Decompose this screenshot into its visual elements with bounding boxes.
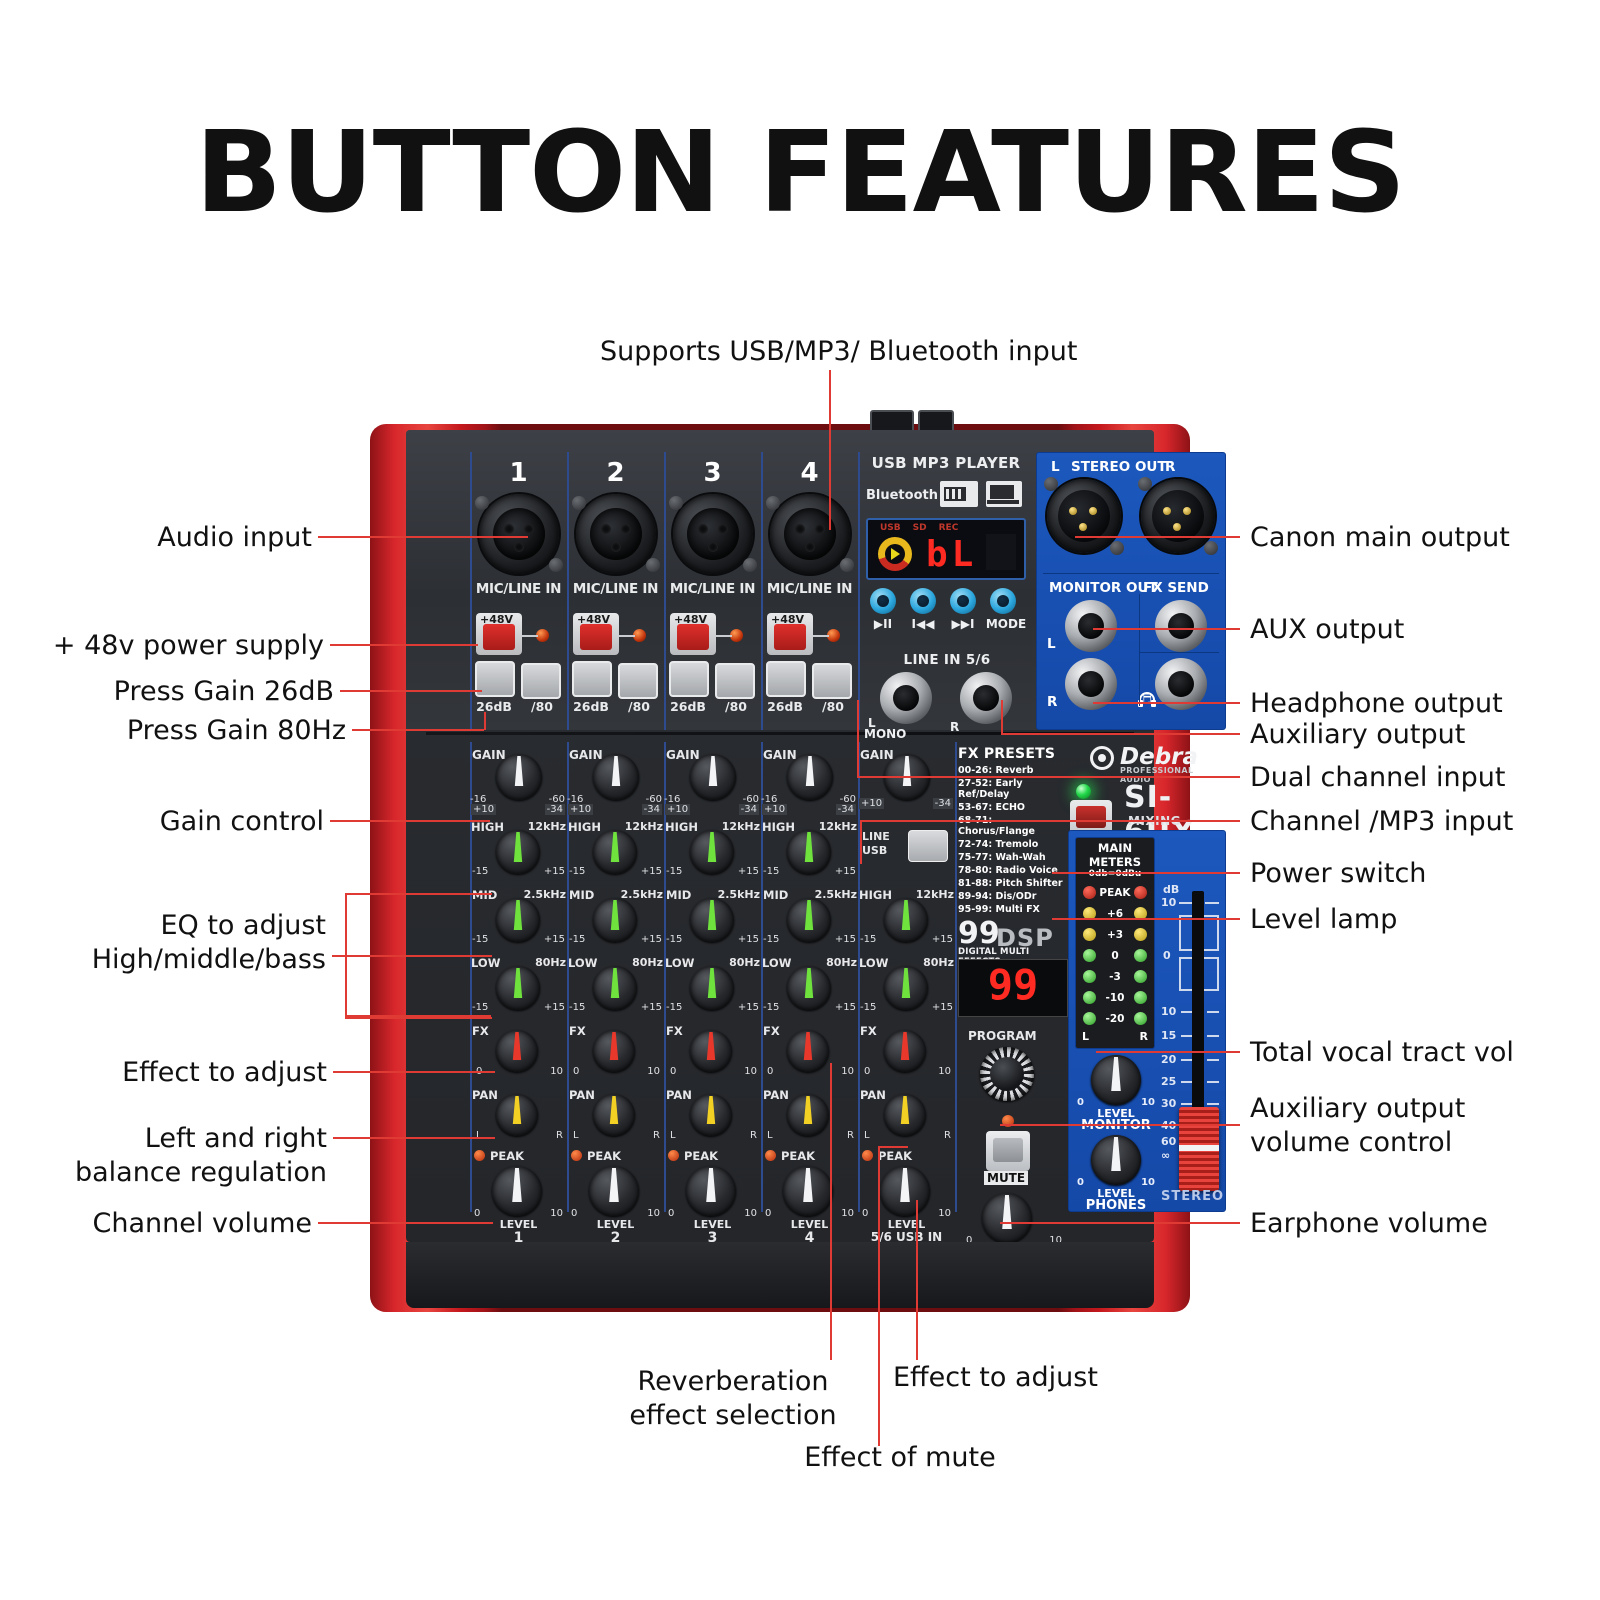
phantom-power-cap xyxy=(774,624,806,650)
pan-knob[interactable] xyxy=(690,1094,732,1136)
fx-preset-item: 89-94: Dis/ODr xyxy=(958,891,1068,902)
leader-power-switch xyxy=(1052,872,1240,874)
phantom-power-button[interactable]: +48V xyxy=(767,613,813,655)
previous-track-button[interactable] xyxy=(910,588,936,614)
fx-knob[interactable] xyxy=(496,1030,538,1072)
monitor-out-title: MONITOR OUT xyxy=(1049,580,1158,596)
display-blank-digits xyxy=(986,534,1016,570)
line-in-title: LINE IN 5/6 xyxy=(864,652,1030,668)
xlr-combo-jack[interactable] xyxy=(673,494,753,574)
fx-preset-item: 81-88: Pitch Shifter xyxy=(958,878,1068,889)
leader-aux-vol xyxy=(1000,1124,1240,1126)
eq-high-group: HIGH 12kHz -15 +15 xyxy=(664,818,761,886)
leader-usb-mp3 xyxy=(829,370,831,530)
eq-high-group: HIGH 12kHz -15 +15 xyxy=(858,886,955,954)
eq-mid-label: MID xyxy=(763,888,788,902)
eq-low-knob[interactable] xyxy=(787,966,831,1010)
eq-low-label: LOW xyxy=(762,956,791,970)
eq-low-knob[interactable] xyxy=(884,966,928,1010)
meter-led-right xyxy=(1134,970,1147,983)
eq-low-label: LOW xyxy=(665,956,694,970)
stereo-out-right-label: R xyxy=(1165,459,1175,475)
gain-max2: -34 xyxy=(739,804,759,815)
led-trace xyxy=(522,635,538,637)
eq-low-knob[interactable] xyxy=(593,966,637,1010)
callout-usb-mp3-bt: Supports USB/MP3/ Bluetooth input xyxy=(600,334,1060,369)
channel-number: 4 xyxy=(761,458,858,488)
gain-max2: -34 xyxy=(933,798,953,809)
callout-audio-input: Audio input xyxy=(0,520,312,555)
callout-earphone-volume: Earphone volume xyxy=(1250,1206,1488,1241)
eq-mid-label: MID xyxy=(666,888,691,902)
gain-knob[interactable] xyxy=(496,754,542,800)
monitor-level-knob[interactable] xyxy=(1091,1055,1141,1105)
eq-high-label: HIGH xyxy=(762,820,795,834)
xlr-pin xyxy=(504,524,514,534)
gain-label: GAIN xyxy=(569,748,603,762)
pan-min: L xyxy=(767,1130,773,1141)
leader-earphone-vol xyxy=(1000,1222,1240,1224)
callout-phantom-power: + 48v power supply xyxy=(0,628,324,663)
dsp-display: 99 xyxy=(958,959,1068,1017)
eq-mid-label: MID xyxy=(569,888,594,902)
meter-led-right xyxy=(1134,928,1147,941)
leader-channel-volume xyxy=(318,1222,493,1224)
dsp-display-value: 99 xyxy=(959,964,1067,1006)
display-tag-usb: USB xyxy=(880,523,901,533)
gain-max2: -34 xyxy=(836,804,856,815)
xlr-pin xyxy=(601,524,611,534)
pc-usb-icon xyxy=(986,481,1022,507)
hpf-label: /80 xyxy=(811,699,855,714)
leader-effect-adjust xyxy=(333,1071,495,1073)
brand-logo-icon xyxy=(1090,746,1114,770)
phones-level-sub: PHONES xyxy=(1077,1198,1155,1213)
gain-max2: -34 xyxy=(642,804,662,815)
fader-tick-15: 15 xyxy=(1161,1029,1176,1042)
eq-high-max: +15 xyxy=(641,866,662,877)
eq-high-knob[interactable] xyxy=(690,830,734,874)
stereo-out-right-jack[interactable] xyxy=(1141,479,1215,553)
callout-level-lamp: Level lamp xyxy=(1250,902,1397,937)
eq-high-max: +15 xyxy=(835,866,856,877)
eq-low-max: +15 xyxy=(544,1002,565,1013)
pad-26db-button[interactable] xyxy=(669,661,709,697)
fx-min: 0 xyxy=(670,1066,676,1077)
fx-return-knob[interactable] xyxy=(982,1193,1032,1243)
fx-label: FX xyxy=(763,1024,780,1038)
mute-label: MUTE xyxy=(984,1171,1028,1185)
monitor-out-left-jack[interactable] xyxy=(1065,600,1117,652)
jack-screw-icon xyxy=(549,558,563,572)
eq-low-min: -15 xyxy=(860,1002,876,1013)
phones-level-knob[interactable] xyxy=(1091,1135,1141,1185)
leader-effect-mute-h xyxy=(878,1146,908,1148)
callout-eq-adjust-1: EQ to adjust xyxy=(0,908,326,943)
gain-knob-group: GAIN -16 +10 -60 -34 xyxy=(664,746,761,818)
gain-min2: +10 xyxy=(568,804,593,815)
level-knob[interactable] xyxy=(492,1166,542,1216)
program-encoder[interactable] xyxy=(980,1047,1034,1101)
channel-strip-3: GAIN -16 +10 -60 -34 HIGH 12kHz -15 +15 … xyxy=(664,746,761,1246)
leader-auxiliary-out-v xyxy=(1001,700,1003,734)
eq-high-knob[interactable] xyxy=(787,830,831,874)
eq-high-label: HIGH xyxy=(859,888,892,902)
meter-led-right xyxy=(1134,949,1147,962)
eq-low-knob[interactable] xyxy=(690,966,734,1010)
phantom-power-cap xyxy=(580,624,612,650)
xlr-pin xyxy=(611,542,621,552)
leader-headphone-out xyxy=(1093,702,1240,704)
fx-knob[interactable] xyxy=(690,1030,732,1072)
main-meters: MAIN METERS 0db=0dBu PEAK +6 xyxy=(1075,837,1155,1049)
peak-led xyxy=(668,1150,679,1161)
pad-26db-button[interactable] xyxy=(766,661,806,697)
leader-audio-input xyxy=(318,536,528,538)
leader-auxiliary-out-h xyxy=(1001,733,1240,735)
eq-mid-knob[interactable] xyxy=(787,898,831,942)
eq-mid-freq: 2.5kHz xyxy=(815,888,857,901)
xlr-pin xyxy=(621,524,631,534)
eq-high-min: -15 xyxy=(666,866,682,877)
fx-preset-item: 95-99: Multi FX xyxy=(958,904,1068,915)
eq-mid-knob[interactable] xyxy=(593,898,637,942)
pan-min: L xyxy=(476,1130,482,1141)
column-separator xyxy=(858,452,860,730)
jack-screw-icon xyxy=(1204,541,1218,555)
pad-26db-button[interactable] xyxy=(572,661,612,697)
peak-led xyxy=(571,1150,582,1161)
callout-canon-main-output: Canon main output xyxy=(1250,520,1510,555)
pad-label: 26dB xyxy=(761,699,809,714)
pan-label: PAN xyxy=(472,1088,498,1102)
program-label: PROGRAM xyxy=(968,1029,1037,1043)
phantom-power-cap xyxy=(483,624,515,650)
eq-mid-group: MID 2.5kHz -15 +15 xyxy=(761,886,858,954)
eq-high-label: HIGH xyxy=(665,820,698,834)
strip-separator xyxy=(955,742,957,1212)
peak-label: PEAK xyxy=(684,1149,718,1163)
led-trace xyxy=(813,635,829,637)
level-knob[interactable] xyxy=(589,1166,639,1216)
leader-eq-mid xyxy=(345,955,492,957)
leader-channel-mp3-v xyxy=(860,820,862,864)
eq-low-freq: 80Hz xyxy=(535,956,566,969)
gain-min2: +10 xyxy=(859,798,884,809)
jack-label: MIC/LINE IN xyxy=(761,581,858,597)
eq-high-label: HIGH xyxy=(568,820,601,834)
pad-label: 26dB xyxy=(567,699,615,714)
fx-send-group: FX 0 10 xyxy=(858,1022,955,1086)
channel-number: 2 xyxy=(567,458,664,488)
hpf-80hz-button[interactable] xyxy=(715,663,755,699)
mode-button[interactable] xyxy=(990,588,1016,614)
input-channel-4: 4 MIC/LINE IN +48V 26dB xyxy=(761,458,858,715)
input-channel-2: 2 MIC/LINE IN +48V 26dB xyxy=(567,458,664,715)
gain-label: GAIN xyxy=(763,748,797,762)
gain-knob-group: GAIN -16 +10 -60 -34 xyxy=(567,746,664,818)
callout-aux-output: AUX output xyxy=(1250,612,1404,647)
leader-balance xyxy=(333,1137,495,1139)
fx-knob[interactable] xyxy=(593,1030,635,1072)
jack-label: MIC/LINE IN xyxy=(567,581,664,597)
panel-bottom-edge xyxy=(406,1242,1154,1308)
mute-button[interactable] xyxy=(986,1131,1030,1171)
jack-screw-icon xyxy=(766,496,780,510)
source-line-label: LINE xyxy=(862,830,890,843)
led-trace xyxy=(716,635,732,637)
meter-led-right xyxy=(1134,1012,1147,1025)
jack-screw-icon xyxy=(840,558,854,572)
control-panel: 1 MIC/LINE IN +48V 26dB xyxy=(406,430,1154,1242)
eq-high-freq: 12kHz xyxy=(722,820,760,833)
display-tag-rec: REC xyxy=(939,523,959,533)
fx-preset-item: 00-26: Reverb xyxy=(958,765,1068,776)
pan-group: PAN L R xyxy=(858,1086,955,1150)
jack-label: MIC/LINE IN xyxy=(470,581,567,597)
channel-number: 1 xyxy=(470,458,567,488)
eq-mid-knob[interactable] xyxy=(690,898,734,942)
leader-total-vol xyxy=(1096,1051,1240,1053)
eq-high-freq: 12kHz xyxy=(625,820,663,833)
fx-min: 0 xyxy=(864,1066,870,1077)
level-lamp xyxy=(1076,784,1091,799)
fx-label: FX xyxy=(666,1024,683,1038)
level-group: PEAK 0 10 LEVEL 5/6 USB IN xyxy=(858,1150,955,1246)
fader-unit: dB xyxy=(1163,883,1179,896)
stereo-out-left-jack[interactable] xyxy=(1047,479,1121,553)
gain-knob[interactable] xyxy=(787,754,833,800)
xlr-pin xyxy=(708,542,718,552)
eq-mid-freq: 2.5kHz xyxy=(621,888,663,901)
callout-balance-2: balance regulation xyxy=(0,1155,327,1190)
eq-mid-min: -15 xyxy=(763,934,779,945)
xlr-pin xyxy=(524,524,534,534)
fx-send-group: FX 0 10 xyxy=(761,1022,858,1086)
play-dial-icon xyxy=(878,537,912,571)
eq-low-max: +15 xyxy=(835,1002,856,1013)
eq-low-freq: 80Hz xyxy=(826,956,857,969)
eq-high-group: HIGH 12kHz -15 +15 xyxy=(470,818,567,886)
meter-led-right xyxy=(1134,991,1147,1004)
play-pause-button[interactable] xyxy=(870,588,896,614)
mute-group: MUTE xyxy=(958,1115,1068,1191)
callout-aux-out-vol-1: Auxiliary output xyxy=(1250,1091,1465,1126)
pan-max: R xyxy=(556,1130,563,1141)
eq-high-min: -15 xyxy=(472,866,488,877)
monitor-level-group: 0 10 LEVEL MONITOR xyxy=(1077,1055,1155,1133)
leader-gain80-h xyxy=(352,729,484,731)
channel-number: 3 xyxy=(664,458,761,488)
gain-knob-group: GAIN -16 +10 -60 -34 xyxy=(761,746,858,818)
xlr-pin xyxy=(815,524,825,534)
hpf-80hz-button[interactable] xyxy=(618,663,658,699)
stereo-out-left-label: L xyxy=(1051,459,1060,475)
callout-channel-mp3-input: Channel /MP3 input xyxy=(1250,804,1513,839)
line-in-left-jack[interactable] xyxy=(880,672,932,724)
pan-knob[interactable] xyxy=(787,1094,829,1136)
fx-knob[interactable] xyxy=(787,1030,829,1072)
eq-low-freq: 80Hz xyxy=(632,956,663,969)
fx-max: 10 xyxy=(938,1066,951,1077)
eq-low-knob[interactable] xyxy=(496,966,540,1010)
hpf-80hz-button[interactable] xyxy=(812,663,852,699)
jack-screw-icon xyxy=(646,558,660,572)
phantom-power-button[interactable]: +48V xyxy=(476,613,522,655)
eq-high-freq: 12kHz xyxy=(916,888,954,901)
eq-mid-group: MID 2.5kHz -15 +15 xyxy=(567,886,664,954)
jack-label: MIC/LINE IN xyxy=(664,581,761,597)
eq-low-max: +15 xyxy=(932,1002,953,1013)
level-knob[interactable] xyxy=(783,1166,833,1216)
pan-knob[interactable] xyxy=(884,1094,926,1136)
fx-label: FX xyxy=(569,1024,586,1038)
gain-knob-group: GAIN +10 -34 xyxy=(858,746,955,818)
main-fader-group: dB 10 0 10 15 20 25 30 xyxy=(1161,839,1223,1205)
pan-group: PAN L R xyxy=(761,1086,858,1150)
gain-min2: +10 xyxy=(762,804,787,815)
pad-label: 26dB xyxy=(664,699,712,714)
peak-led xyxy=(474,1150,485,1161)
eq-high-freq: 12kHz xyxy=(819,820,857,833)
leader-level-lamp xyxy=(1052,918,1240,920)
callout-headphone-output: Headphone output xyxy=(1250,686,1503,721)
eq-high-min: -15 xyxy=(763,866,779,877)
channel-strip-4: GAIN -16 +10 -60 -34 HIGH 12kHz -15 +15 … xyxy=(761,746,858,1246)
eq-low-freq: 80Hz xyxy=(923,956,954,969)
jack-screw-icon xyxy=(572,496,586,510)
mp3-display-value: bL xyxy=(926,534,977,575)
leader-canon-out xyxy=(1075,536,1240,538)
usb-mp3-player-section: USB MP3 PLAYER Bluetooth USB xyxy=(866,454,1026,636)
eq-high-max: +15 xyxy=(544,866,565,877)
next-track-icon: ▶▶I xyxy=(942,617,984,631)
leader-eq-low xyxy=(345,1017,492,1019)
fader-tick-inf: ∞ xyxy=(1161,1149,1170,1162)
leader-gain80-v xyxy=(484,712,486,730)
fx-send-jack[interactable] xyxy=(1155,600,1207,652)
fx-max: 10 xyxy=(744,1066,757,1077)
pan-knob[interactable] xyxy=(593,1094,635,1136)
monitor-out-left-label: L xyxy=(1047,636,1056,652)
next-track-button[interactable] xyxy=(950,588,976,614)
callout-reverb-select-1: Reverberation xyxy=(620,1364,846,1399)
callout-effect-adjust-bottom: Effect to adjust xyxy=(893,1360,1098,1395)
input-channel-1: 1 MIC/LINE IN +48V 26dB xyxy=(470,458,567,715)
fx-min: 0 xyxy=(573,1066,579,1077)
panel-divider xyxy=(1139,652,1219,653)
gain-knob-group: GAIN -16 +10 -60 -34 xyxy=(470,746,567,818)
pan-label: PAN xyxy=(860,1088,886,1102)
fader-tick-60: 60 xyxy=(1161,1135,1176,1148)
input-channel-3: 3 MIC/LINE IN +48V 26dB xyxy=(664,458,761,715)
mode-icon: MODE xyxy=(982,617,1030,631)
pan-group: PAN L R xyxy=(664,1086,761,1150)
callout-eq-adjust-2: High/middle/bass xyxy=(0,942,326,977)
line-in-right-jack[interactable] xyxy=(960,672,1012,724)
output-section: L STEREO OUT R M xyxy=(1036,452,1226,730)
eq-high-label: HIGH xyxy=(471,820,504,834)
leader-effect-adjust-bottom xyxy=(916,1200,918,1360)
pan-min: L xyxy=(670,1130,676,1141)
phantom-power-button[interactable]: +48V xyxy=(573,613,619,655)
callout-effect-of-mute: Effect of mute xyxy=(790,1440,1010,1475)
leader-eq-high xyxy=(345,893,492,895)
fx-label: FX xyxy=(472,1024,489,1038)
source-select-group: LINE USB xyxy=(858,818,955,886)
peak-label: PEAK xyxy=(781,1149,815,1163)
hpf-80hz-button[interactable] xyxy=(521,663,561,699)
eq-mid-knob[interactable] xyxy=(496,898,540,942)
monitor-out-right-label: R xyxy=(1047,694,1057,710)
leader-gain26 xyxy=(340,690,482,692)
callout-dual-channel-input: Dual channel input xyxy=(1250,760,1505,795)
pan-label: PAN xyxy=(763,1088,789,1102)
pan-max: R xyxy=(847,1130,854,1141)
level-group: PEAK 0 10 LEVEL 3 xyxy=(664,1150,761,1246)
eq-high-knob[interactable] xyxy=(593,830,637,874)
fx-preset-item: 53-67: ECHO xyxy=(958,802,1068,813)
fx-max: 10 xyxy=(550,1066,563,1077)
fader-tick-10: 10 xyxy=(1161,1005,1176,1018)
level-knob[interactable] xyxy=(686,1166,736,1216)
dsp-count: 99 xyxy=(958,919,1000,949)
fx-send-group: FX 0 10 xyxy=(567,1022,664,1086)
eq-low-group: LOW 80Hz -15 +15 xyxy=(567,954,664,1022)
eq-low-freq: 80Hz xyxy=(729,956,760,969)
callout-gain-26db: Press Gain 26dB xyxy=(0,674,334,709)
phantom-power-cap xyxy=(677,624,709,650)
pan-label: PAN xyxy=(569,1088,595,1102)
eq-high-group: HIGH 12kHz -15 +15 xyxy=(761,818,858,886)
line-in-56-section: LINE IN 5/6 L MONO R xyxy=(864,652,1030,742)
pan-min: L xyxy=(864,1130,870,1141)
xlr-pin xyxy=(514,542,524,552)
led-trace xyxy=(619,635,635,637)
level-group: PEAK 0 10 LEVEL 2 xyxy=(567,1150,664,1246)
xlr-combo-jack[interactable] xyxy=(576,494,656,574)
pan-knob[interactable] xyxy=(496,1094,538,1136)
eq-high-max: +15 xyxy=(738,866,759,877)
line-usb-switch[interactable] xyxy=(908,830,948,862)
eq-high-max: +15 xyxy=(932,934,953,945)
pan-label: PAN xyxy=(666,1088,692,1102)
level-knob[interactable] xyxy=(880,1166,930,1216)
peak-led xyxy=(765,1150,776,1161)
bluetooth-label: Bluetooth xyxy=(866,488,938,503)
meter-led-right xyxy=(1134,886,1147,899)
gain-knob[interactable] xyxy=(593,754,639,800)
phantom-power-button[interactable]: +48V xyxy=(670,613,716,655)
xlr-combo-jack[interactable] xyxy=(770,494,850,574)
fx-knob[interactable] xyxy=(884,1030,926,1072)
gain-knob[interactable] xyxy=(690,754,736,800)
pan-max: R xyxy=(944,1130,951,1141)
xlr-pin xyxy=(795,524,805,534)
eq-low-max: +15 xyxy=(641,1002,662,1013)
eq-high-knob[interactable] xyxy=(496,830,540,874)
eq-high-knob[interactable] xyxy=(884,898,928,942)
meters-left-label: L xyxy=(1082,1030,1089,1043)
fader-tick-25: 25 xyxy=(1161,1075,1176,1088)
fx-preset-item: 75-77: Wah-Wah xyxy=(958,852,1068,863)
callout-total-vocal-tract-vol: Total vocal tract vol xyxy=(1250,1035,1514,1070)
xlr-combo-jack[interactable] xyxy=(479,494,559,574)
fx-label: FX xyxy=(860,1024,877,1038)
eq-low-group: LOW 80Hz -15 +15 xyxy=(761,954,858,1022)
eq-mid-min: -15 xyxy=(569,934,585,945)
fx-send-group: FX 0 10 xyxy=(470,1022,567,1086)
